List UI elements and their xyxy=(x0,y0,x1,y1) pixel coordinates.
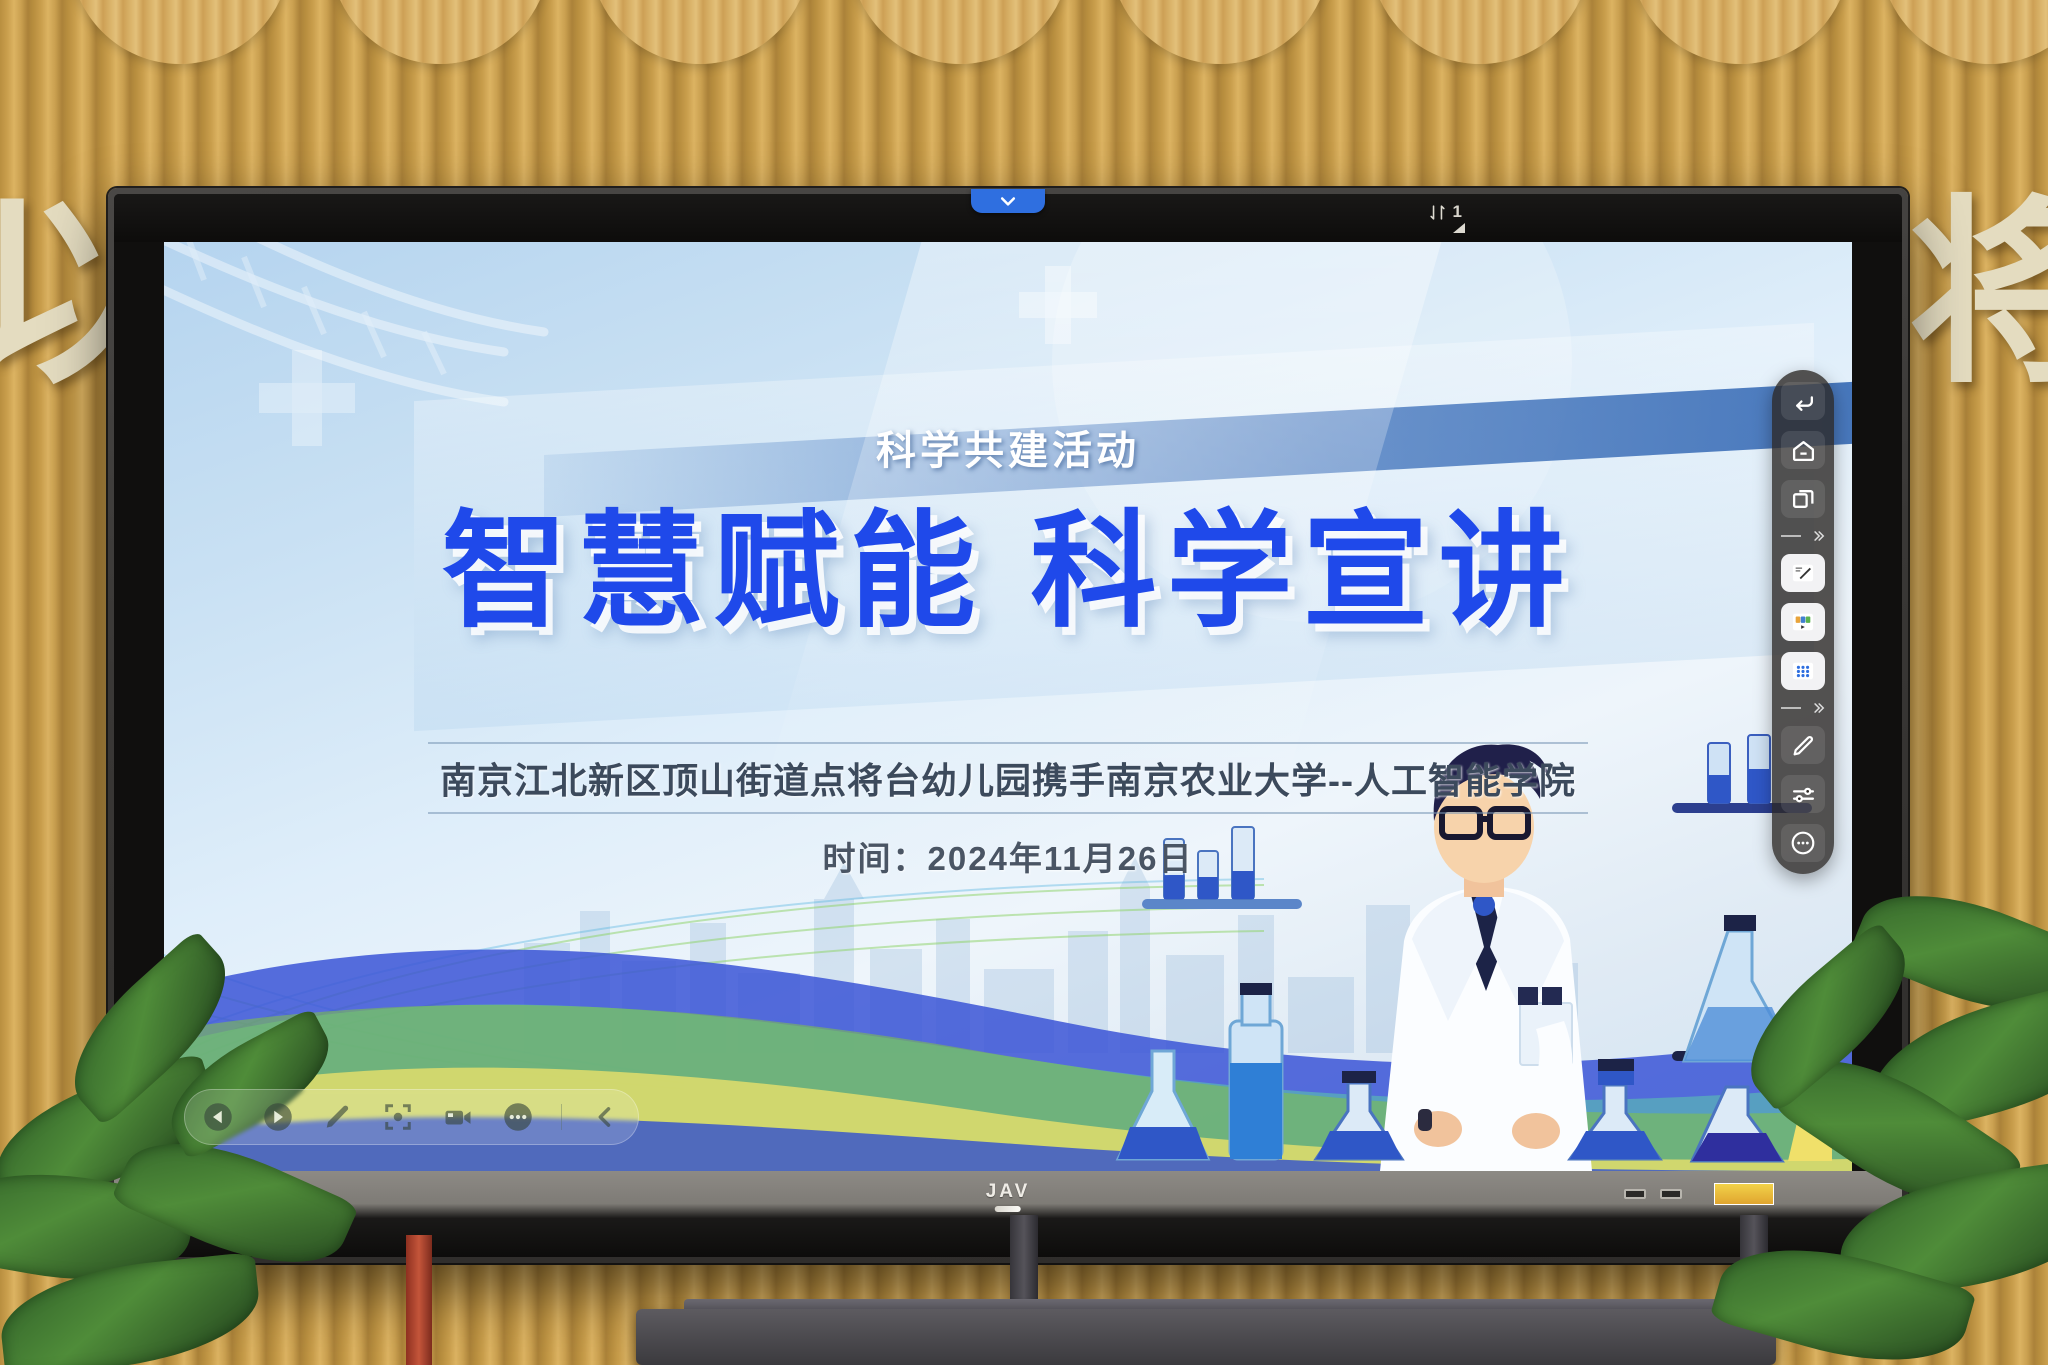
toolbar-divider xyxy=(561,1104,562,1130)
display-bezel: 1 xyxy=(114,194,1902,1257)
play-left-icon xyxy=(203,1102,233,1132)
side-tool-dock[interactable] xyxy=(1772,370,1834,874)
qr-square-icon xyxy=(214,1187,234,1200)
windows-stack-icon xyxy=(1791,487,1816,512)
red-pole-object xyxy=(406,1235,432,1365)
presentation-slide: 科学共建活动 智慧赋能 科学宣讲 南京江北新区顶山街道点将台幼儿园携手南京农业大… xyxy=(164,242,1852,1171)
home-icon xyxy=(1791,438,1816,463)
back-button[interactable] xyxy=(1781,382,1825,420)
settings-sliders-button[interactable] xyxy=(1781,775,1825,813)
usb-port-1[interactable] xyxy=(1624,1189,1646,1199)
chevron-left-icon xyxy=(591,1103,619,1131)
bezel-bottom-strip: JAV xyxy=(114,1171,1902,1257)
interactive-flat-panel-display[interactable]: 1 xyxy=(108,188,1908,1263)
energy-label-sticker xyxy=(209,1183,239,1203)
more-dock-button[interactable] xyxy=(1781,824,1825,862)
recent-tasks-button[interactable] xyxy=(1781,480,1825,518)
record-button[interactable] xyxy=(441,1100,475,1134)
apps-grid-button[interactable] xyxy=(1781,652,1825,690)
circle-ellipsis-icon xyxy=(1790,830,1816,856)
ccc-sticker xyxy=(174,1183,204,1203)
chevrons-right-icon xyxy=(1811,529,1825,543)
apps-grid-icon xyxy=(1791,660,1815,682)
slide-date: 时间：2024年11月26日 xyxy=(164,832,1852,880)
slideshow-button[interactable] xyxy=(1781,603,1825,641)
pulldown-menu-tab[interactable] xyxy=(971,189,1045,213)
wall-letter-right: 将 xyxy=(1908,195,2048,395)
model-label xyxy=(174,1206,246,1213)
usb-ports[interactable] xyxy=(1624,1189,1682,1199)
brand-name: JAV xyxy=(986,1181,1031,1203)
chevron-down-icon xyxy=(998,191,1018,211)
screenshot-button[interactable] xyxy=(381,1100,415,1134)
sort-arrows-icon xyxy=(1428,203,1447,222)
next-slide-button[interactable] xyxy=(261,1100,295,1134)
page-number: 1 xyxy=(1453,202,1462,222)
play-right-icon xyxy=(263,1102,293,1132)
organizations-wrapper: 南京江北新区顶山街道点将台幼儿园携手南京农业大学--人工智能学院 xyxy=(428,742,1588,814)
bezel-top-strip: 1 xyxy=(114,194,1902,242)
classroom-scene: 以 将 1 xyxy=(0,0,2048,1365)
display-screen[interactable]: 科学共建活动 智慧赋能 科学宣讲 南京江北新区顶山街道点将台幼儿园携手南京农业大… xyxy=(164,242,1852,1171)
pencil-icon xyxy=(323,1102,353,1132)
slideshow-play-icon xyxy=(1790,611,1816,633)
page-indicator-corner xyxy=(1453,223,1465,233)
page-indicator: 1 xyxy=(1428,202,1462,222)
video-camera-icon xyxy=(443,1102,473,1132)
home-button[interactable] xyxy=(1781,431,1825,469)
wall-arc-decorations xyxy=(0,0,2048,110)
dock-divider-1 xyxy=(1781,529,1825,543)
usb-port-2[interactable] xyxy=(1660,1189,1682,1199)
collapse-toolbar-button[interactable] xyxy=(588,1100,622,1134)
back-arrow-icon xyxy=(1791,389,1816,414)
wifi-waves-icon xyxy=(179,1187,199,1200)
pen-tool-button[interactable] xyxy=(1781,726,1825,764)
slide-kicker: 科学共建活动 xyxy=(164,418,1852,476)
slide-bottom-toolbar[interactable] xyxy=(184,1089,639,1145)
power-led-indicator xyxy=(995,1206,1021,1212)
more-options-button[interactable] xyxy=(501,1100,535,1134)
sliders-icon xyxy=(1791,782,1816,807)
slide-title: 智慧赋能 科学宣讲 xyxy=(164,470,1852,652)
whiteboard-button[interactable] xyxy=(1781,554,1825,592)
stand-base xyxy=(636,1309,1776,1365)
warranty-sticker xyxy=(1714,1183,1774,1205)
pencil-icon xyxy=(1791,733,1816,758)
whiteboard-note-icon xyxy=(1790,562,1816,584)
certification-stickers xyxy=(174,1183,239,1203)
screenshot-icon xyxy=(383,1102,413,1132)
ellipsis-icon xyxy=(503,1102,533,1132)
dock-divider-2 xyxy=(1781,701,1825,715)
chevrons-right-icon xyxy=(1811,701,1825,715)
pen-annotate-button[interactable] xyxy=(321,1100,355,1134)
brand-logo: JAV xyxy=(986,1181,1031,1212)
slide-organizations: 南京江北新区顶山街道点将台幼儿园携手南京农业大学--人工智能学院 xyxy=(428,742,1588,814)
previous-slide-button[interactable] xyxy=(201,1100,235,1134)
